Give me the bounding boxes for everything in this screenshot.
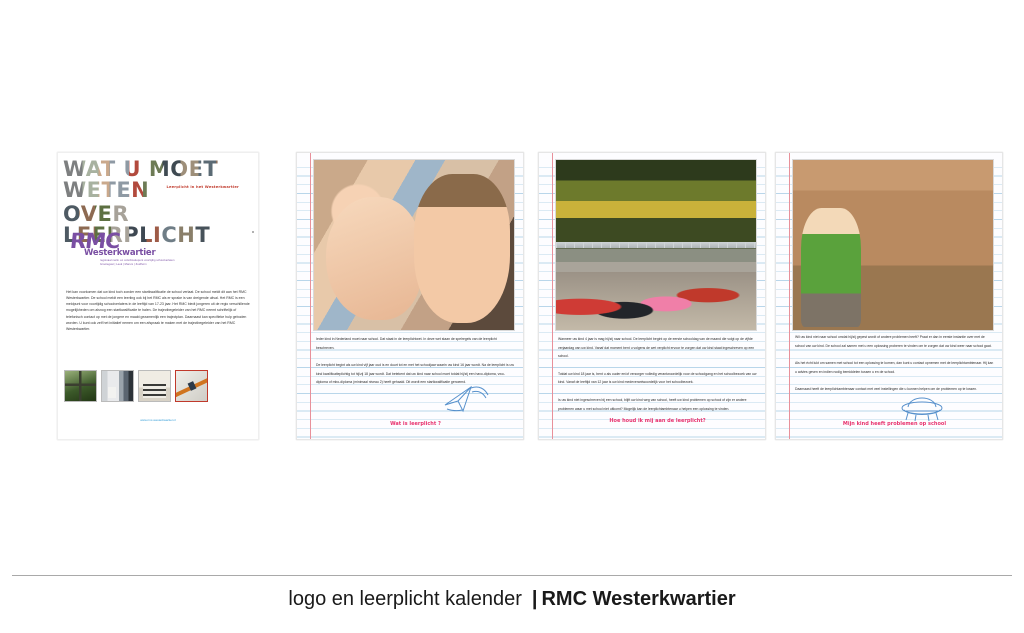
rmc-logo-tagline: regionaal meld- en coördinatiepunt voort…: [100, 259, 180, 267]
caption-right-text: RMC Westerkwartier: [541, 588, 735, 610]
notebook-page-what-is-leerplicht: Ieder kind in Nederland moet naar school…: [296, 152, 524, 440]
paragraph: Totdat uw kind 18 jaar is, bent u als ou…: [558, 370, 757, 387]
paragraph: Is uw kind niet ingeschreven bij een sch…: [558, 396, 757, 413]
cover-url: www.rmc-westerkwartier.nl: [58, 418, 258, 422]
cover-decor-dot: [252, 231, 254, 233]
children-hand-photo: [314, 160, 514, 330]
page-heading: Hoe houd ik mij aan de leerplicht?: [558, 418, 757, 424]
rmc-logo-main: RMC: [69, 231, 181, 252]
page-photo: [792, 159, 994, 331]
notebook-page-mijn-kind-heeft-problemen-op-school: Wil uw kind niet naar school omdat hij/z…: [775, 152, 1003, 440]
paper-airplane-doodle: [441, 381, 491, 415]
cover-title: WAT U MOET WETEN OVER LEERPLICHT Leerpli…: [63, 159, 241, 205]
page-body-text: Wanneer uw kind 4 jaar is mag hij/zij na…: [558, 335, 757, 422]
page-photo: [313, 159, 515, 331]
paragraph: Als het écht lukt om samen met school to…: [795, 359, 994, 376]
paragraph: Wanneer uw kind 4 jaar is mag hij/zij na…: [558, 335, 757, 361]
cover-title-line-1: WAT U MOET WETEN: [63, 159, 241, 201]
cover-thumbnail-strip: [64, 370, 208, 402]
staircase-thumbnail: [138, 370, 171, 402]
cover-subtitle: Leerplicht in het Westerkwartier: [167, 185, 239, 189]
playground-children-photo: [556, 160, 756, 330]
page-photo: [555, 159, 757, 331]
margin-line: [789, 153, 790, 439]
page-heading: Wat is leerplicht ?: [316, 421, 515, 427]
paragraph: Ieder kind in Nederland moet naar school…: [316, 335, 515, 352]
caption-left-text: logo en leerplicht kalender: [288, 588, 522, 610]
classroom-boys-photo: [793, 160, 993, 330]
rmc-logo: RMC Westerkwartier regionaal meld- en co…: [70, 231, 180, 271]
brochure-spread: WAT U MOET WETEN OVER LEERPLICHT Leerpli…: [0, 0, 1024, 560]
margin-line: [310, 153, 311, 439]
hallway-thumbnail: [101, 370, 134, 402]
railing-thumbnail: [175, 370, 208, 402]
ufo-doodle: [894, 389, 950, 423]
window-thumbnail: [64, 370, 97, 402]
caption-divider: [12, 575, 1012, 576]
cover-page: WAT U MOET WETEN OVER LEERPLICHT Leerpli…: [57, 152, 259, 440]
caption-bar: logo en leerplicht kalender|RMC Westerkw…: [0, 588, 1024, 611]
notebook-page-hoe-houd-ik-mij-aan-de-leerplicht: Wanneer uw kind 4 jaar is mag hij/zij na…: [538, 152, 766, 440]
cover-body-text: Het kan voorkomen dat uw kind toch zonde…: [66, 289, 252, 332]
caption-separator: |: [532, 588, 538, 610]
paragraph: Wil uw kind niet naar school omdat hij/z…: [795, 333, 994, 350]
margin-line: [552, 153, 553, 439]
